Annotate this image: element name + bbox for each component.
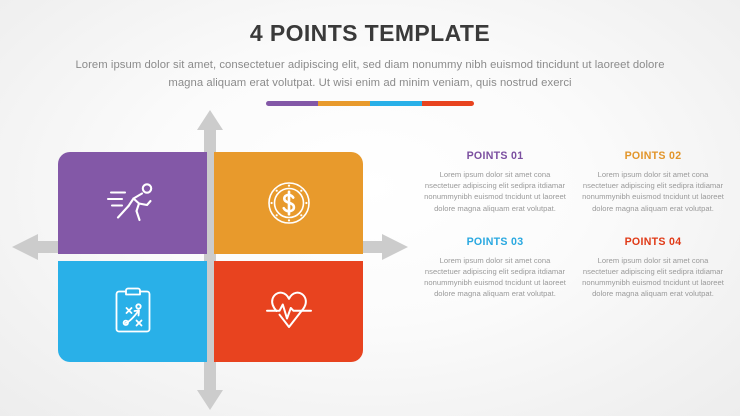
quadrant-grid	[58, 152, 363, 362]
point-desc-4: Lorem ipsum dolor sit amet cona nsectetu…	[582, 255, 724, 300]
strategy-clipboard-icon	[112, 286, 154, 336]
dollar-coin-icon	[266, 180, 312, 226]
quadrant-box-3[interactable]	[58, 261, 207, 363]
divider-segment-2	[318, 101, 370, 106]
point-item-1: POINTS 01 Lorem ipsum dolor sit amet con…	[424, 150, 566, 214]
page-title: 4 POINTS TEMPLATE	[0, 18, 740, 48]
point-desc-2: Lorem ipsum dolor sit amet cona nsectetu…	[582, 169, 724, 214]
point-item-3: POINTS 03 Lorem ipsum dolor sit amet con…	[424, 236, 566, 300]
quadrant-box-2[interactable]	[214, 152, 363, 254]
point-desc-1: Lorem ipsum dolor sit amet cona nsectetu…	[424, 169, 566, 214]
header: 4 POINTS TEMPLATE Lorem ipsum dolor sit …	[0, 18, 740, 106]
page-subtitle: Lorem ipsum dolor sit amet, consectetuer…	[60, 56, 680, 92]
point-item-4: POINTS 04 Lorem ipsum dolor sit amet con…	[582, 236, 724, 300]
quadrant-diagram	[0, 110, 420, 410]
point-title-2: POINTS 02	[582, 150, 724, 162]
point-title-3: POINTS 03	[424, 236, 566, 248]
divider-segment-1	[266, 101, 318, 106]
running-person-icon	[106, 180, 160, 226]
divider-segment-3	[370, 101, 422, 106]
heart-pulse-icon	[262, 287, 316, 335]
color-divider-bar	[266, 101, 474, 106]
point-desc-3: Lorem ipsum dolor sit amet cona nsectetu…	[424, 255, 566, 300]
divider-segment-4	[422, 101, 474, 106]
points-list: POINTS 01 Lorem ipsum dolor sit amet con…	[424, 150, 724, 300]
quadrant-box-4[interactable]	[214, 261, 363, 363]
point-title-1: POINTS 01	[424, 150, 566, 162]
quadrant-box-1[interactable]	[58, 152, 207, 254]
slide-canvas: 4 POINTS TEMPLATE Lorem ipsum dolor sit …	[0, 0, 740, 416]
point-title-4: POINTS 04	[582, 236, 724, 248]
point-item-2: POINTS 02 Lorem ipsum dolor sit amet con…	[582, 150, 724, 214]
